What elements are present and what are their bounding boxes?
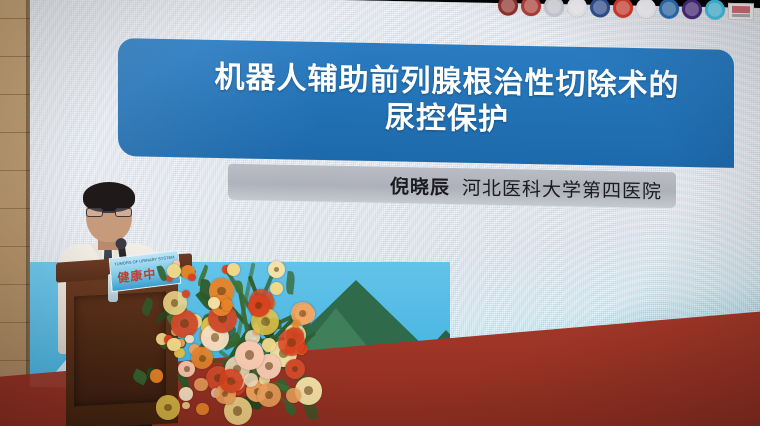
flower-bloom xyxy=(278,329,305,356)
flower-bloom xyxy=(182,290,190,298)
glasses-bridge xyxy=(103,211,115,213)
flower-bloom xyxy=(167,264,181,278)
flower-bloom xyxy=(156,395,180,419)
slide-title-line-2: 尿控保护 xyxy=(385,100,509,139)
sponsor-logo-7-icon xyxy=(636,0,656,18)
flower-bloom xyxy=(182,402,189,409)
flower-bloom xyxy=(188,274,195,281)
sponsor-logo-10-icon xyxy=(705,0,725,20)
presentation-photo-stage: 机器人辅助前列腺根治性切除术的 尿控保护 倪晓辰 河北医科大学第四医院 TUMO… xyxy=(0,0,760,426)
speaker-organization: 河北医科大学第四医院 xyxy=(462,173,662,204)
sponsor-logo-5-icon xyxy=(590,0,610,18)
speaker-name: 倪晓辰 xyxy=(390,171,450,199)
flower-bloom xyxy=(179,387,193,401)
sponsor-logo-8-icon xyxy=(659,0,679,19)
glasses-lens-right xyxy=(115,208,132,217)
sponsor-logo-2-icon xyxy=(521,0,541,16)
slide-title-banner: 机器人辅助前列腺根治性切除术的 尿控保护 xyxy=(118,38,734,168)
slide-title-line-1: 机器人辅助前列腺根治性切除术的 xyxy=(215,60,680,106)
flower-bloom xyxy=(292,320,300,328)
flower-bloom xyxy=(227,263,240,276)
presenter-glasses xyxy=(86,208,132,217)
sponsor-logo-1-icon xyxy=(498,0,518,16)
flower-bloom xyxy=(262,338,276,352)
flower-leaf xyxy=(131,368,149,385)
flower-bloom xyxy=(219,369,243,393)
flower-bloom xyxy=(257,383,281,407)
flower-bloom xyxy=(194,378,207,391)
floral-arrangement xyxy=(126,244,326,426)
flower-bloom xyxy=(248,295,270,317)
glasses-lens-left xyxy=(86,208,103,217)
flower-bloom xyxy=(285,359,305,379)
flower-bloom xyxy=(268,261,285,278)
flower-leaf xyxy=(140,297,156,317)
flower-leaf xyxy=(234,280,243,294)
flower-bloom xyxy=(150,369,164,383)
sponsor-logo-3-icon xyxy=(544,0,564,17)
flower-leaf xyxy=(286,271,296,294)
flower-bloom xyxy=(270,282,283,295)
flower-bloom xyxy=(178,361,195,378)
flower-bloom xyxy=(235,341,264,370)
flower-bloom xyxy=(221,299,233,311)
sponsor-logo-11-icon xyxy=(728,3,754,20)
flower-bloom xyxy=(208,297,220,309)
sponsor-logo-4-icon xyxy=(567,0,587,17)
flower-bloom xyxy=(185,335,193,343)
flower-bloom xyxy=(286,388,301,403)
sponsor-logo-6-icon xyxy=(613,0,633,18)
flower-bloom xyxy=(244,373,258,387)
flower-bloom xyxy=(196,403,208,415)
sponsor-logo-9-icon xyxy=(682,0,702,19)
